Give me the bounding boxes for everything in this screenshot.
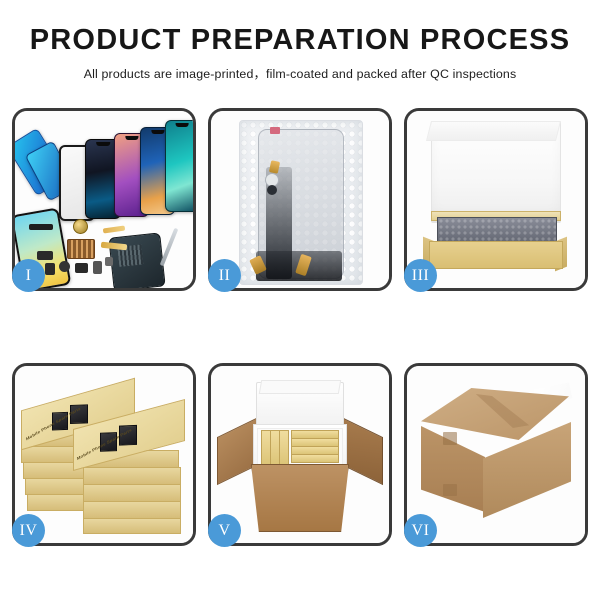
step-image-foam-lined-open-box <box>407 111 585 288</box>
part-icon <box>75 263 88 273</box>
part-icon <box>59 261 70 272</box>
page-subtitle: All products are image-printed，film-coat… <box>0 64 600 82</box>
phone-backplate-icon <box>108 232 165 288</box>
box-edge <box>83 484 181 502</box>
part-icon <box>45 263 55 275</box>
foam-lid-top-icon <box>259 380 341 394</box>
retail-box-icon <box>279 430 289 466</box>
notch-icon <box>176 123 189 127</box>
process-infographic: PRODUCT PREPARATION PROCESS All products… <box>0 0 600 600</box>
phone-teal-icon <box>165 120 193 212</box>
speaker-coil-icon <box>73 219 88 234</box>
step-panel-1: I <box>12 108 196 291</box>
carton-body-icon <box>251 464 349 532</box>
steps-grid: I II <box>12 108 588 546</box>
step-panel-4: Mobile Phone Spare Parts Mobile Phone Sp… <box>12 363 196 546</box>
tweezers-icon <box>160 228 179 267</box>
retail-box-icon <box>291 454 339 463</box>
box-edge <box>83 518 181 534</box>
carton-tape-icon <box>443 432 457 445</box>
notch-icon <box>125 136 138 140</box>
carton-right-face-icon <box>483 422 571 518</box>
notch-icon <box>151 130 164 134</box>
step-image-master-carton-packing <box>211 366 389 543</box>
flex-cable-icon <box>103 225 125 233</box>
step-badge-4: IV <box>12 514 45 547</box>
kraft-box-front-icon <box>429 241 563 269</box>
part-icon <box>105 257 113 266</box>
page-title: PRODUCT PREPARATION PROCESS <box>0 26 600 55</box>
step-panel-2: II <box>208 108 392 291</box>
carton-tape-icon <box>443 484 457 496</box>
step-badge-2: II <box>208 259 241 292</box>
step-panel-5: V <box>208 363 392 546</box>
battery-connector-icon <box>29 224 53 230</box>
label-sticker-icon <box>270 127 280 134</box>
step-image-phones-and-spare-parts <box>15 111 193 288</box>
step-badge-3: III <box>404 259 437 292</box>
part-icon <box>37 251 53 260</box>
step-badge-1: I <box>12 259 45 292</box>
part-icon <box>93 261 102 274</box>
header: PRODUCT PREPARATION PROCESS All products… <box>0 0 600 82</box>
foam-lid-top-icon <box>426 121 561 141</box>
bubble-wrap-bag-icon <box>239 120 363 285</box>
step-badge-6: VI <box>404 514 437 547</box>
step-image-bubble-wrapped-screen <box>211 111 389 288</box>
box-stack: Mobile Phone Spare Parts Mobile Phone Sp… <box>21 378 187 530</box>
notch-icon <box>96 142 110 146</box>
step-image-sealed-shipping-carton <box>407 366 585 543</box>
step-image-stacked-retail-boxes: Mobile Phone Spare Parts Mobile Phone Sp… <box>15 366 193 543</box>
box-edge <box>83 501 181 519</box>
sensor-icon <box>267 185 277 195</box>
step-panel-6: VI <box>404 363 588 546</box>
step-badge-5: V <box>208 514 241 547</box>
step-panel-3: III <box>404 108 588 291</box>
box-edge <box>83 467 181 485</box>
chip-array-icon <box>67 239 95 259</box>
